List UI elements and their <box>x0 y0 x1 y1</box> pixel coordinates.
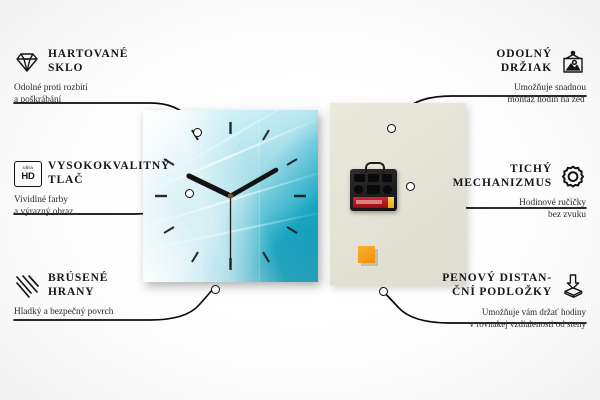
feature-title-line: TICHÝ <box>510 163 552 175</box>
feature-title-line: HARTOVANÉ <box>48 48 128 60</box>
feature-subtitle-line: Hodinové ručičky <box>519 198 586 208</box>
feature-subtitle-line: Umožňuje snadnou <box>514 83 586 93</box>
connector-dot-spacers <box>379 287 388 296</box>
clock-mechanism-box <box>350 169 397 211</box>
feature-subtitle-line: v rovnakej vzdialenosti od steny <box>470 319 586 329</box>
feature-title-line: VYSOKOKVALITNÝ <box>48 160 170 172</box>
feature-subtitle-line: Umožňuje vám držať hodiny <box>482 307 586 317</box>
feature-title-line: DRŽIAK <box>501 62 552 74</box>
connector-dot-hanger <box>387 124 396 133</box>
clock-minute-hand <box>231 170 277 196</box>
feature-tempered-glass: HARTOVANÉ SKLO Odolné proti rozbití a po… <box>14 48 189 106</box>
connector-dot-tempered-glass <box>193 128 202 137</box>
ultra-hd-badge-icon: ultra HD <box>14 161 40 187</box>
feature-durable-hanger: ODOLNÝ DRŽIAK Umožňuje snadnou montáž ho… <box>411 48 586 106</box>
feature-title-line: SKLO <box>48 62 83 74</box>
feature-title-line: ODOLNÝ <box>496 48 552 60</box>
feature-subtitle-line: a výrazný obraz <box>14 207 73 217</box>
foam-spacer-pad <box>358 246 375 263</box>
down-arrow-pad-icon <box>560 273 586 299</box>
diagonal-lines-icon <box>14 273 40 299</box>
diamond-icon <box>14 49 40 75</box>
clock-center-cap <box>228 193 233 198</box>
feature-subtitle-line: bez zvuku <box>548 210 586 220</box>
gear-icon <box>560 164 586 190</box>
badge-main-label: HD <box>21 171 34 180</box>
feature-title-line: HRANY <box>48 286 94 298</box>
feature-subtitle-line: Hladký a bezpečný povrch <box>14 307 113 317</box>
hanger-loop-icon <box>365 162 385 173</box>
clock-hour-hand <box>189 176 231 196</box>
feature-subtitle-line: Odolné proti rozbití <box>14 83 88 93</box>
infographic-canvas: HARTOVANÉ SKLO Odolné proti rozbití a po… <box>0 0 600 400</box>
feature-subtitle-line: Vividlné farby <box>14 195 68 205</box>
feature-title-line: TLAČ <box>48 174 83 186</box>
connector-dot-edges <box>211 285 220 294</box>
feature-subtitle-line: a poškrábání <box>14 95 61 105</box>
feature-foam-spacers: PENOVÝ DISTAN- ČNÍ PODLOŽKY Umožňuje vám… <box>406 272 586 330</box>
feature-title-line: BRÚSENÉ <box>48 272 108 284</box>
feature-polished-edges: BRÚSENÉ HRANY Hladký a bezpečný povrch <box>14 272 189 319</box>
feature-title-line: PENOVÝ DISTAN- <box>442 272 552 284</box>
feature-subtitle-line: montáž hodin na zeď <box>507 95 586 105</box>
feature-title-line: ČNÍ PODLOŽKY <box>452 286 552 298</box>
feature-high-quality-print: ultra HD VYSOKOKVALITNÝ TLAČ Vividlné fa… <box>14 160 189 218</box>
picture-hanger-icon <box>560 49 586 75</box>
feature-silent-mechanism: TICHÝ MECHANIZMUS Hodinové ručičky bez z… <box>411 163 586 221</box>
battery <box>353 197 394 208</box>
feature-title-line: MECHANIZMUS <box>453 177 552 189</box>
